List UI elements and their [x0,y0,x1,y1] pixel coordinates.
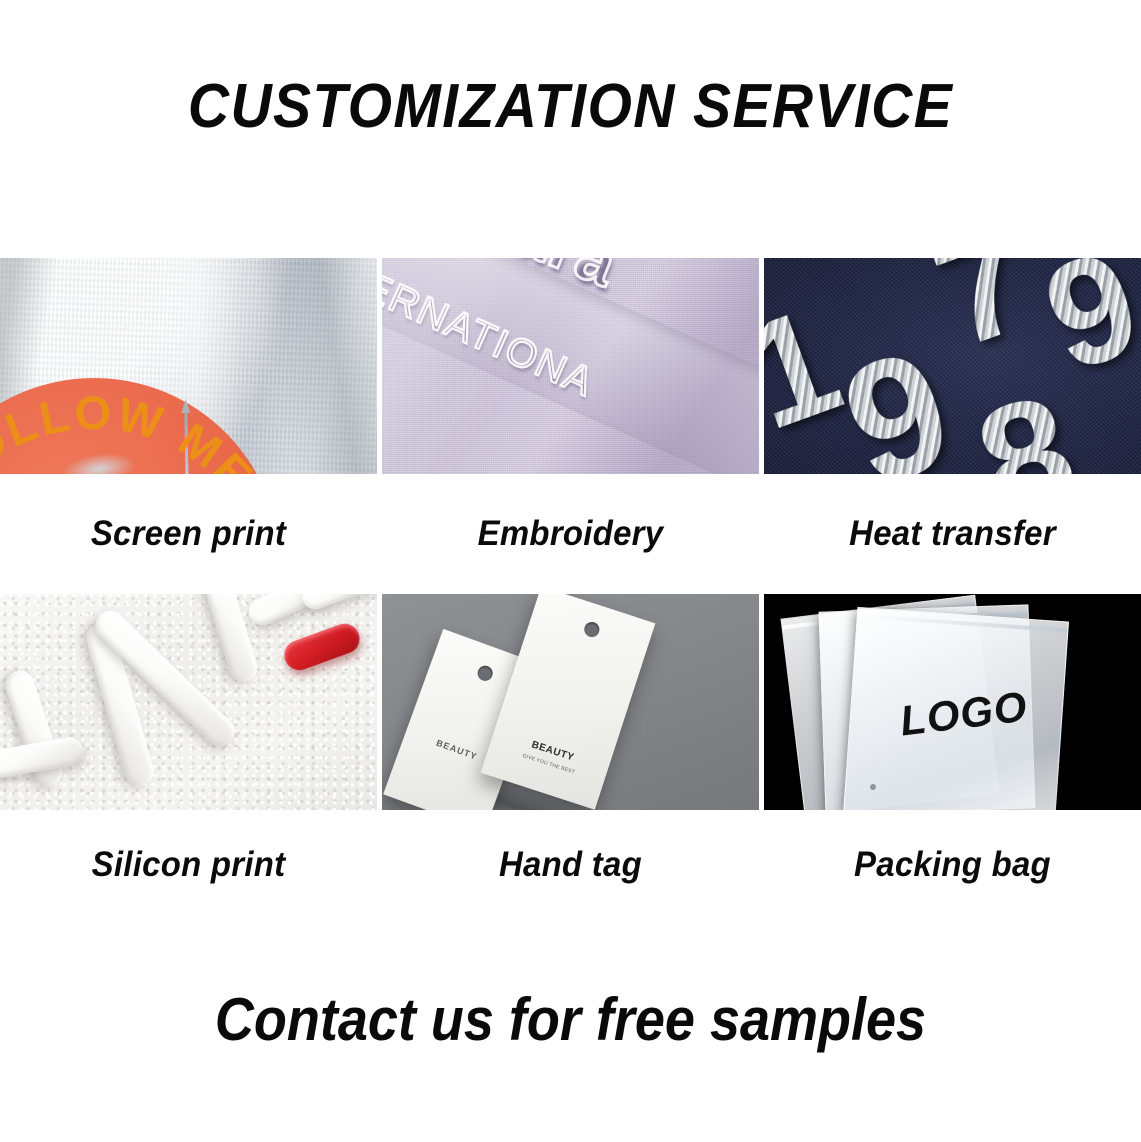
embroidery-lighting-gloss [382,258,759,474]
customization-gallery: N'T FOLLOW ME Screen print ara ERNATIONA… [0,258,1141,920]
gallery-item-label: Packing bag [775,810,1129,920]
gallery-item-screen-print[interactable]: N'T FOLLOW ME Screen print [0,258,377,594]
gallery-item-heat-transfer[interactable]: 7 9 1 9 8 Heat transfer [764,258,1141,594]
hang-tag-hole [582,620,601,639]
gallery-item-label: Silicon print [11,810,365,920]
hang-tag-back: BEAUTY GIVE YOU THE BEST [481,594,656,810]
hand-tag-photo: BEAUTY BEAUTY GIVE YOU THE BEST [382,594,759,810]
gallery-item-silicon-print[interactable]: Silicon print [0,594,377,920]
contact-cta: Contact us for free samples [57,985,1084,1054]
gallery-item-hand-tag[interactable]: BEAUTY BEAUTY GIVE YOU THE BEST Hand tag [382,594,759,920]
gallery-item-label: Embroidery [393,474,747,594]
embroidery-photo: ara ERNATIONA [382,258,759,474]
vent-hole [870,784,876,790]
gallery-row-2: Silicon print BEAUTY BEAUTY GIVE YOU THE… [0,594,1141,920]
screen-print-photo: N'T FOLLOW ME [0,258,377,474]
gallery-row-1: N'T FOLLOW ME Screen print ara ERNATIONA… [0,258,1141,594]
gallery-item-embroidery[interactable]: ara ERNATIONA Embroidery [382,258,759,594]
zip-seal [858,614,1068,633]
silicon-print-photo [0,594,377,810]
heat-transfer-photo: 7 9 1 9 8 [764,258,1141,474]
hang-tag-hole [476,664,495,683]
gallery-item-packing-bag[interactable]: LOGO Packing bag [764,594,1141,920]
page-title: CUSTOMIZATION SERVICE [46,74,1096,139]
customization-service-banner: CUSTOMIZATION SERVICE N' [0,0,1141,1142]
gallery-item-label: Hand tag [393,810,747,920]
gallery-item-label: Heat transfer [775,474,1129,594]
gallery-item-label: Screen print [11,474,365,594]
packing-bag-photo: LOGO [764,594,1141,810]
